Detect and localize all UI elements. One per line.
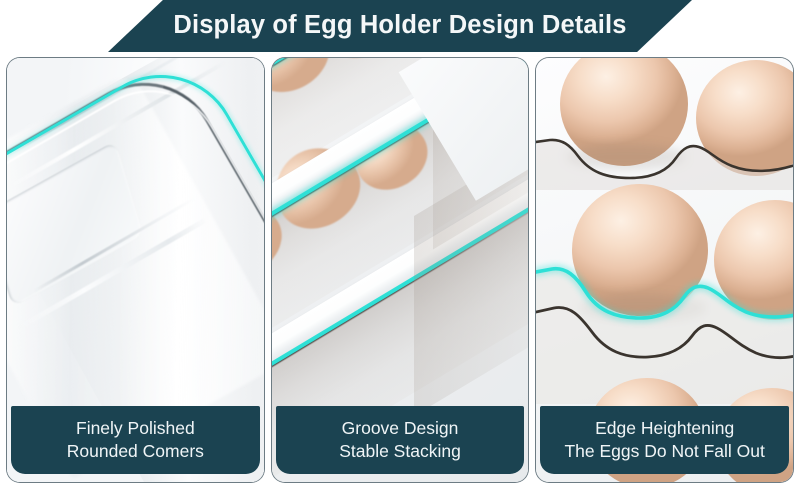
panel-caption: Groove Design Stable Stacking [276, 406, 525, 474]
feature-panel-rounded-corners[interactable]: Finely Polished Rounded Comers [7, 58, 264, 482]
panel-caption: Finely Polished Rounded Comers [11, 406, 260, 474]
caption-line-2: Rounded Comers [67, 440, 204, 463]
caption-line-1: Finely Polished [76, 417, 195, 440]
feature-panel-row: Finely Polished Rounded Comers [0, 58, 800, 482]
caption-line-2: Stable Stacking [339, 440, 461, 463]
caption-line-1: Groove Design [342, 417, 459, 440]
upper-edge-glass [536, 140, 793, 190]
raised-edge-upper [536, 116, 793, 190]
product-detail-infographic: Display of Egg Holder Design Details Fin… [0, 0, 800, 494]
caption-line-1: Edge Heightening [595, 417, 734, 440]
feature-panel-groove-design[interactable]: Groove Design Stable Stacking [272, 58, 529, 482]
header-banner: Display of Egg Holder Design Details [0, 0, 800, 52]
feature-panel-edge-heightening[interactable]: Edge Heightening The Eggs Do Not Fall Ou… [536, 58, 793, 482]
panel-caption: Edge Heightening The Eggs Do Not Fall Ou… [540, 406, 789, 474]
caption-line-2: The Eggs Do Not Fall Out [564, 440, 764, 463]
page-title: Display of Egg Holder Design Details [0, 0, 800, 52]
